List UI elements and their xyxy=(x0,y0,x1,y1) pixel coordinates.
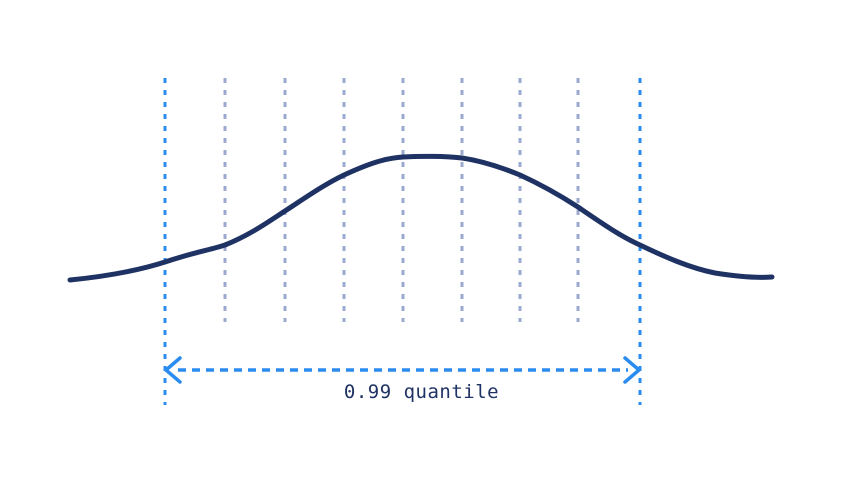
arrowhead-left-icon xyxy=(166,358,180,382)
density-curve xyxy=(70,156,772,280)
quantile-annotation-label: 0.99 quantile xyxy=(0,381,843,403)
quantile-density-plot xyxy=(0,0,843,480)
chart-canvas: 0.99 quantile xyxy=(0,0,843,480)
quantile-span-arrow xyxy=(166,358,639,382)
inner-gridlines xyxy=(225,78,578,322)
